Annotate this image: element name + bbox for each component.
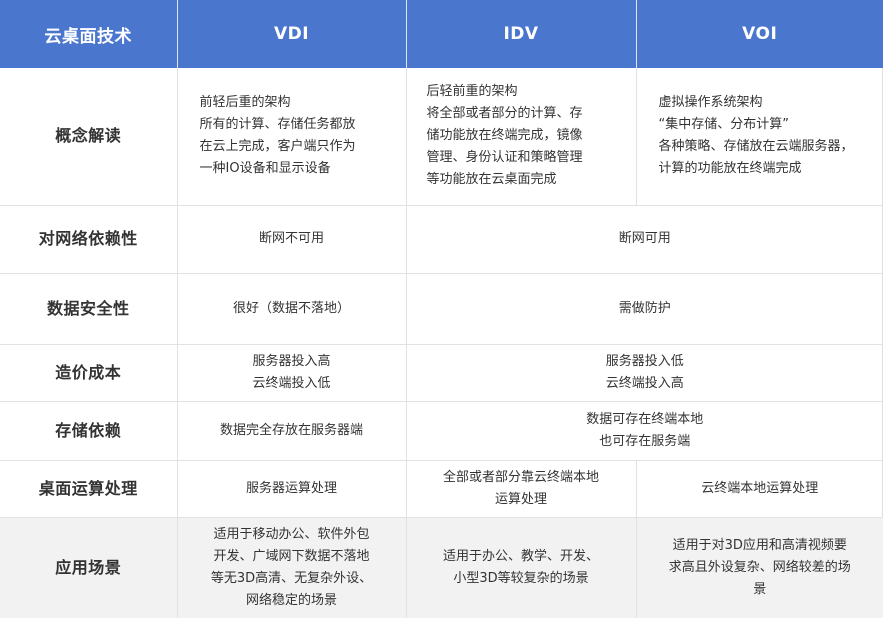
table-row: 造价成本 服务器投入高云终端投入低 服务器投入低云终端投入高: [0, 344, 883, 401]
cell-text-line: 需做防护: [417, 298, 874, 320]
header-cell-vdi: VDI: [177, 0, 406, 68]
row-label-data-security: 数据安全性: [0, 273, 177, 344]
cell-text-line: 在云上完成，客户端只作为: [200, 136, 396, 158]
cell-text-line: 等无3D高清、无复杂外设、: [188, 568, 396, 590]
table-header: 云桌面技术 VDI IDV VOI: [0, 0, 883, 68]
cell-concept-vdi: 前轻后重的架构所有的计算、存储任务都放在云上完成，客户端只作为一种IO设备和显示…: [177, 68, 406, 205]
table-row: 概念解读 前轻后重的架构所有的计算、存储任务都放在云上完成，客户端只作为一种IO…: [0, 68, 883, 205]
cell-text-line: 数据可存在终端本地: [417, 409, 874, 431]
cell-text-line: 服务器投入低: [417, 351, 874, 373]
cell-text-line: “集中存储、分布计算”: [659, 114, 874, 136]
cell-text-line: 全部或者部分靠云终端本地: [417, 467, 626, 489]
header-cell-idv: IDV: [406, 0, 636, 68]
table-row: 数据安全性 很好（数据不落地） 需做防护: [0, 273, 883, 344]
cell-text-line: 计算的功能放在终端完成: [659, 158, 874, 180]
table-row: 对网络依赖性 断网不可用 断网可用: [0, 205, 883, 273]
cell-scenario-idv: 适用于办公、教学、开发、小型3D等较复杂的场景: [406, 517, 636, 618]
table-row: 存储依赖 数据完全存放在服务器端 数据可存在终端本地也可存在服务端: [0, 401, 883, 460]
cell-text-line: 云终端本地运算处理: [647, 478, 874, 500]
cell-text-line: 也可存在服务端: [417, 431, 874, 453]
cell-concept-idv: 后轻前重的架构将全部或者部分的计算、存储功能放在终端完成，镜像管理、身份认证和策…: [406, 68, 636, 205]
cell-text-line: 景: [647, 579, 874, 601]
cell-text-line: 各种策略、存储放在云端服务器，: [659, 136, 874, 158]
comparison-table-container: 云桌面技术 VDI IDV VOI 概念解读 前轻后重的架构所有的计算、存储任务…: [0, 0, 883, 611]
table-body: 概念解读 前轻后重的架构所有的计算、存储任务都放在云上完成，客户端只作为一种IO…: [0, 68, 883, 618]
cell-compute-voi: 云终端本地运算处理: [636, 460, 883, 517]
table-row: 桌面运算处理 服务器运算处理 全部或者部分靠云终端本地运算处理 云终端本地运算处…: [0, 460, 883, 517]
cell-compute-vdi: 服务器运算处理: [177, 460, 406, 517]
cell-cost-idv-voi-merged: 服务器投入低云终端投入高: [406, 344, 883, 401]
cell-text-line: 等功能放在云桌面完成: [427, 169, 626, 191]
cell-storage-vdi: 数据完全存放在服务器端: [177, 401, 406, 460]
cell-concept-voi: 虚拟操作系统架构“集中存储、分布计算”各种策略、存储放在云端服务器，计算的功能放…: [636, 68, 883, 205]
cell-text-line: 储功能放在终端完成，镜像: [427, 125, 626, 147]
cell-storage-idv-voi-merged: 数据可存在终端本地也可存在服务端: [406, 401, 883, 460]
cell-text-line: 管理、身份认证和策略管理: [427, 147, 626, 169]
cell-text-line: 将全部或者部分的计算、存: [427, 103, 626, 125]
cell-text-line: 小型3D等较复杂的场景: [417, 568, 626, 590]
cell-text-line: 一种IO设备和显示设备: [200, 158, 396, 180]
header-cell-label: 云桌面技术: [0, 0, 177, 68]
cell-text-line: 所有的计算、存储任务都放: [200, 114, 396, 136]
cell-text-line: 云终端投入低: [188, 373, 396, 395]
cell-text-line: 云终端投入高: [417, 373, 874, 395]
cell-text-line: 服务器投入高: [188, 351, 396, 373]
row-label-desktop-compute: 桌面运算处理: [0, 460, 177, 517]
cell-text-line: 适用于移动办公、软件外包: [188, 524, 396, 546]
cloud-desktop-comparison-table: 云桌面技术 VDI IDV VOI 概念解读 前轻后重的架构所有的计算、存储任务…: [0, 0, 883, 618]
cell-text-line: 很好（数据不落地）: [188, 298, 396, 320]
cell-text-line: 数据完全存放在服务器端: [188, 420, 396, 442]
cell-text-line: 求高且外设复杂、网络较差的场: [647, 557, 874, 579]
row-label-storage-dependency: 存储依赖: [0, 401, 177, 460]
cell-text-line: 虚拟操作系统架构: [659, 92, 874, 114]
cell-network-vdi: 断网不可用: [177, 205, 406, 273]
table-row: 应用场景 适用于移动办公、软件外包开发、广域网下数据不落地等无3D高清、无复杂外…: [0, 517, 883, 618]
row-label-network-dependency: 对网络依赖性: [0, 205, 177, 273]
cell-scenario-voi: 适用于对3D应用和高清视频要求高且外设复杂、网络较差的场景: [636, 517, 883, 618]
cell-text-line: 前轻后重的架构: [200, 92, 396, 114]
cell-text-line: 适用于对3D应用和高清视频要: [647, 535, 874, 557]
cell-text-line: 开发、广域网下数据不落地: [188, 546, 396, 568]
cell-network-idv-voi-merged: 断网可用: [406, 205, 883, 273]
header-cell-voi: VOI: [636, 0, 883, 68]
cell-text-line: 断网不可用: [188, 228, 396, 250]
cell-text-line: 断网可用: [417, 228, 874, 250]
row-label-cost: 造价成本: [0, 344, 177, 401]
cell-scenario-vdi: 适用于移动办公、软件外包开发、广域网下数据不落地等无3D高清、无复杂外设、网络稳…: [177, 517, 406, 618]
cell-text-line: 适用于办公、教学、开发、: [417, 546, 626, 568]
cell-security-vdi: 很好（数据不落地）: [177, 273, 406, 344]
cell-text-line: 后轻前重的架构: [427, 81, 626, 103]
cell-text-line: 运算处理: [417, 489, 626, 511]
cell-text-line: 网络稳定的场景: [188, 590, 396, 612]
row-label-concept: 概念解读: [0, 68, 177, 205]
cell-text-line: 服务器运算处理: [188, 478, 396, 500]
cell-compute-idv: 全部或者部分靠云终端本地运算处理: [406, 460, 636, 517]
cell-cost-vdi: 服务器投入高云终端投入低: [177, 344, 406, 401]
cell-security-idv-voi-merged: 需做防护: [406, 273, 883, 344]
header-row: 云桌面技术 VDI IDV VOI: [0, 0, 883, 68]
row-label-use-cases: 应用场景: [0, 517, 177, 618]
